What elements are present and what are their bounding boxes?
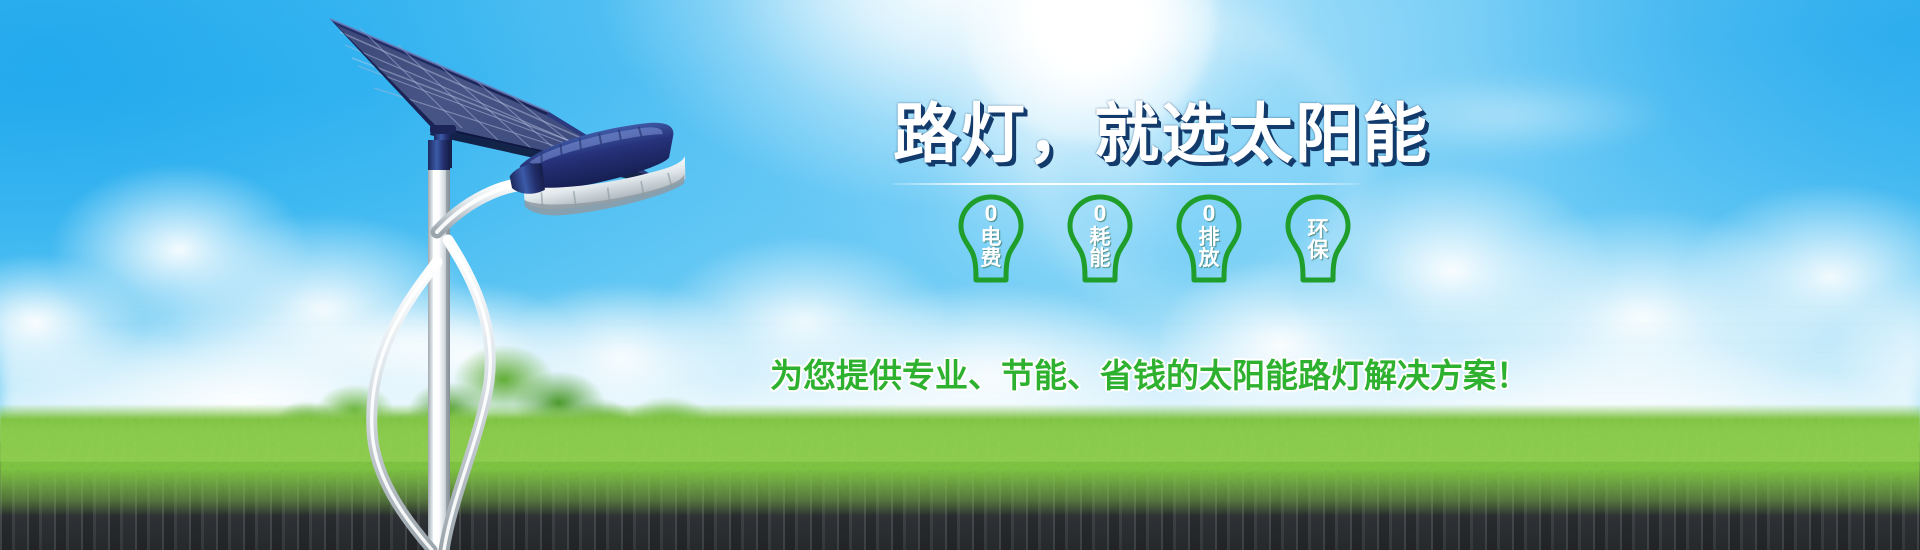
- page-title: 路灯，就选太阳能: [893, 96, 1513, 172]
- feature-badge-label: 0 耗 能: [1057, 202, 1143, 290]
- badge-zero-value: 0: [985, 202, 998, 227]
- badge-word-bottom: 放: [1199, 248, 1220, 269]
- badge-zero-value: 0: [1094, 202, 1107, 227]
- solar-lamp-banner: 路灯，就选太阳能 0 电 费 0 耗 能: [0, 0, 1920, 550]
- headline-divider: [893, 183, 1363, 185]
- tagline: 为您提供专业、节能、省钱的太阳能路灯解决方案！: [770, 355, 1770, 397]
- feature-badge-label: 0 电 费: [948, 202, 1034, 290]
- badge-word-top: 排: [1199, 227, 1220, 248]
- feature-badge-list: 0 电 费 0 耗 能 0 排 放: [948, 192, 1418, 292]
- badge-word-bottom: 能: [1090, 248, 1111, 269]
- feature-badge-0-electricity[interactable]: 0 电 费: [948, 192, 1034, 290]
- badge-word-top: 电: [981, 227, 1002, 248]
- feature-badge-label: 环 保: [1275, 196, 1361, 284]
- ivy-crest: [0, 414, 1920, 462]
- badge-zero-value: 0: [1203, 202, 1216, 227]
- feature-badge-0-consumption[interactable]: 0 耗 能: [1057, 192, 1143, 290]
- feature-badge-label: 0 排 放: [1166, 202, 1252, 290]
- badge-word-bottom: 保: [1308, 240, 1329, 261]
- feature-badge-eco-friendly[interactable]: 环 保: [1275, 192, 1361, 290]
- feature-badge-0-emission[interactable]: 0 排 放: [1166, 192, 1252, 290]
- badge-word-top: 环: [1308, 219, 1329, 240]
- badge-word-top: 耗: [1090, 227, 1111, 248]
- badge-word-bottom: 费: [981, 248, 1002, 269]
